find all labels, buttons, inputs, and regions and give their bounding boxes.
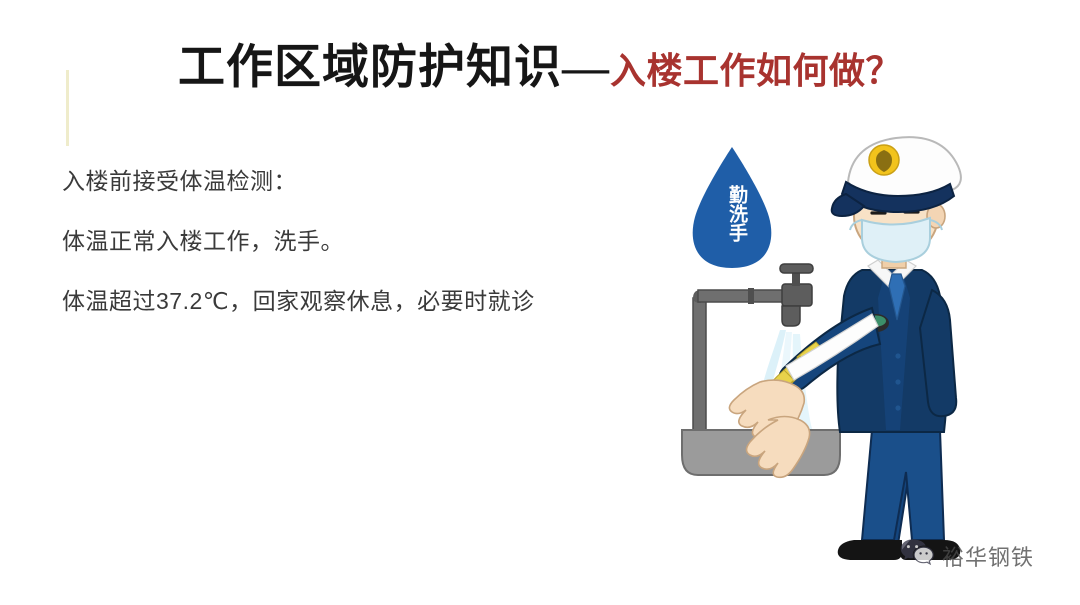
body-copy: 入楼前接受体温检测： 体温正常入楼工作，洗手。 体温超过37.2℃，回家观察休息… (62, 170, 662, 313)
wechat-icon (900, 538, 934, 573)
slide-canvas: 工作区域防护知识—入楼工作如何做？ 入楼前接受体温检测： 体温正常入楼工作，洗手… (0, 0, 1080, 605)
faucet-icon (780, 264, 813, 326)
handwashing-illustration (640, 120, 1040, 590)
page-title-accent: 入楼工作如何做？ (610, 50, 902, 91)
droplet-label: 勤洗手 (722, 185, 748, 242)
face-mask-icon (850, 218, 942, 262)
watermark-label: 裕华钢铁 (942, 540, 1034, 572)
watermark: 裕华钢铁 (900, 538, 1034, 573)
page-title-main: 工作区域防护知识— (178, 42, 610, 94)
body-line-1: 入楼前接受体温检测： (62, 170, 662, 193)
security-guard-figure (729, 137, 960, 560)
page-title: 工作区域防护知识—入楼工作如何做？ (0, 28, 1080, 97)
officer-cap-icon (832, 137, 961, 216)
body-line-3: 体温超过37.2℃，回家观察休息，必要时就诊 (62, 290, 662, 313)
body-line-2: 体温正常入楼工作，洗手。 (62, 230, 662, 253)
